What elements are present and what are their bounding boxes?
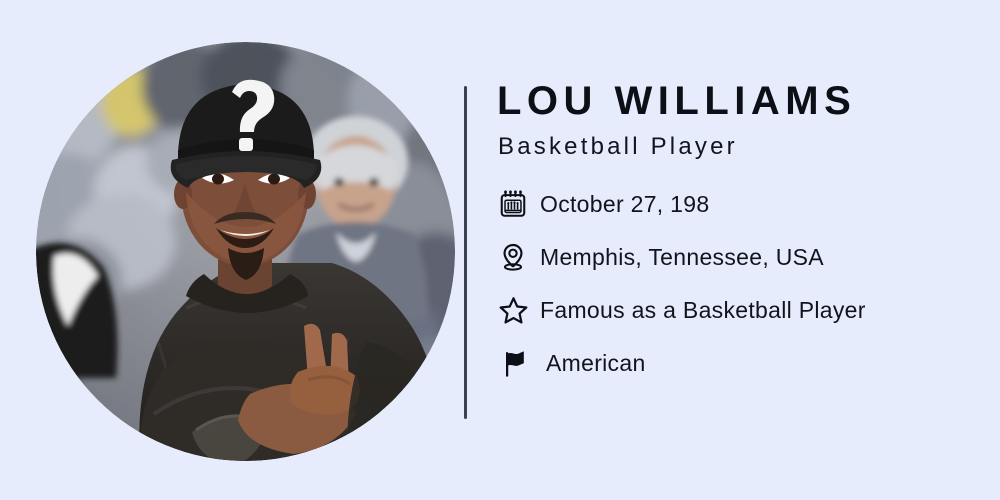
calendar-icon <box>494 185 532 223</box>
fact-birthplace-label: Memphis, Tennessee, USA <box>540 244 824 271</box>
profile-photo <box>36 42 455 461</box>
profile-role: Basketball Player <box>494 132 990 162</box>
flag-icon <box>494 344 534 382</box>
fact-famous-as: Famous as a Basketball Player <box>494 290 990 330</box>
fact-birthplace: Memphis, Tennessee, USA <box>494 237 990 277</box>
star-icon <box>494 291 532 329</box>
fact-list: October 27, 198 Memphis, Tennessee, USA <box>494 184 990 383</box>
fact-birthdate: October 27, 198 <box>494 184 990 224</box>
fact-birthdate-label: October 27, 198 <box>540 191 709 218</box>
fact-nationality: American <box>494 343 990 383</box>
profile-photo-image <box>36 42 455 461</box>
page-title: LOU WILLIAMS <box>494 78 990 124</box>
vertical-divider <box>464 86 467 419</box>
fact-famous-as-label: Famous as a Basketball Player <box>540 297 866 324</box>
profile-info: LOU WILLIAMS Basketball Player <box>494 78 990 428</box>
location-pin-icon <box>494 238 532 276</box>
profile-card: LOU WILLIAMS Basketball Player <box>0 0 1000 500</box>
fact-nationality-label: American <box>546 350 646 377</box>
